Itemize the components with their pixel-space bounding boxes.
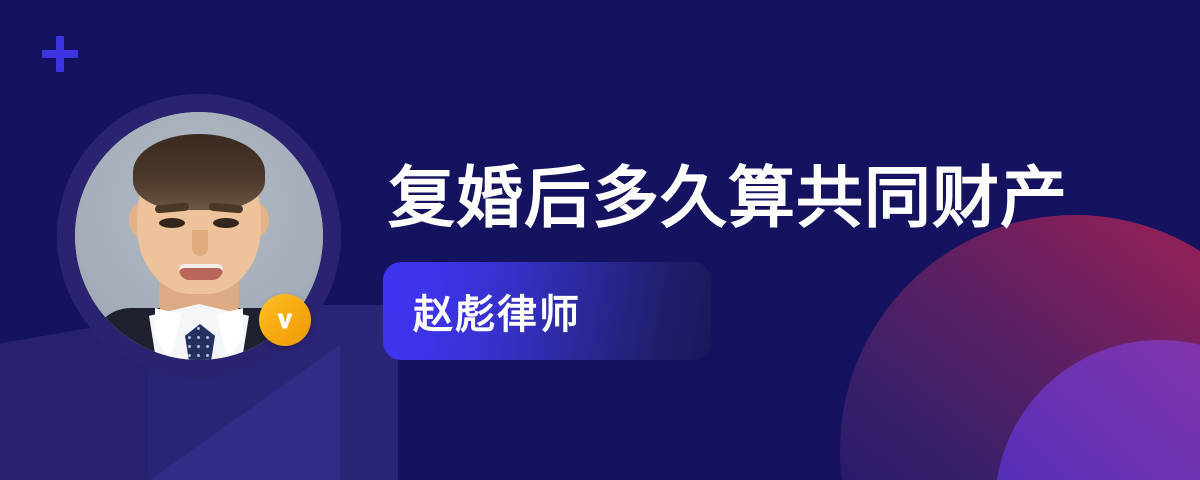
portrait-hair [133, 134, 265, 210]
portrait-mouth [179, 264, 223, 280]
page-title: 复婚后多久算共同财产 [388, 158, 1068, 238]
portrait-nose [192, 230, 208, 256]
verified-v-badge-icon [259, 294, 311, 346]
author-name-button[interactable]: 赵彪律师 [383, 262, 711, 360]
plus-icon [42, 36, 78, 72]
lawyer-article-banner: 复婚后多久算共同财产 赵彪律师 [0, 0, 1200, 480]
portrait-eye-right [213, 218, 239, 228]
portrait-eye-left [159, 218, 185, 228]
plus-icon-vertical-bar [56, 36, 64, 72]
